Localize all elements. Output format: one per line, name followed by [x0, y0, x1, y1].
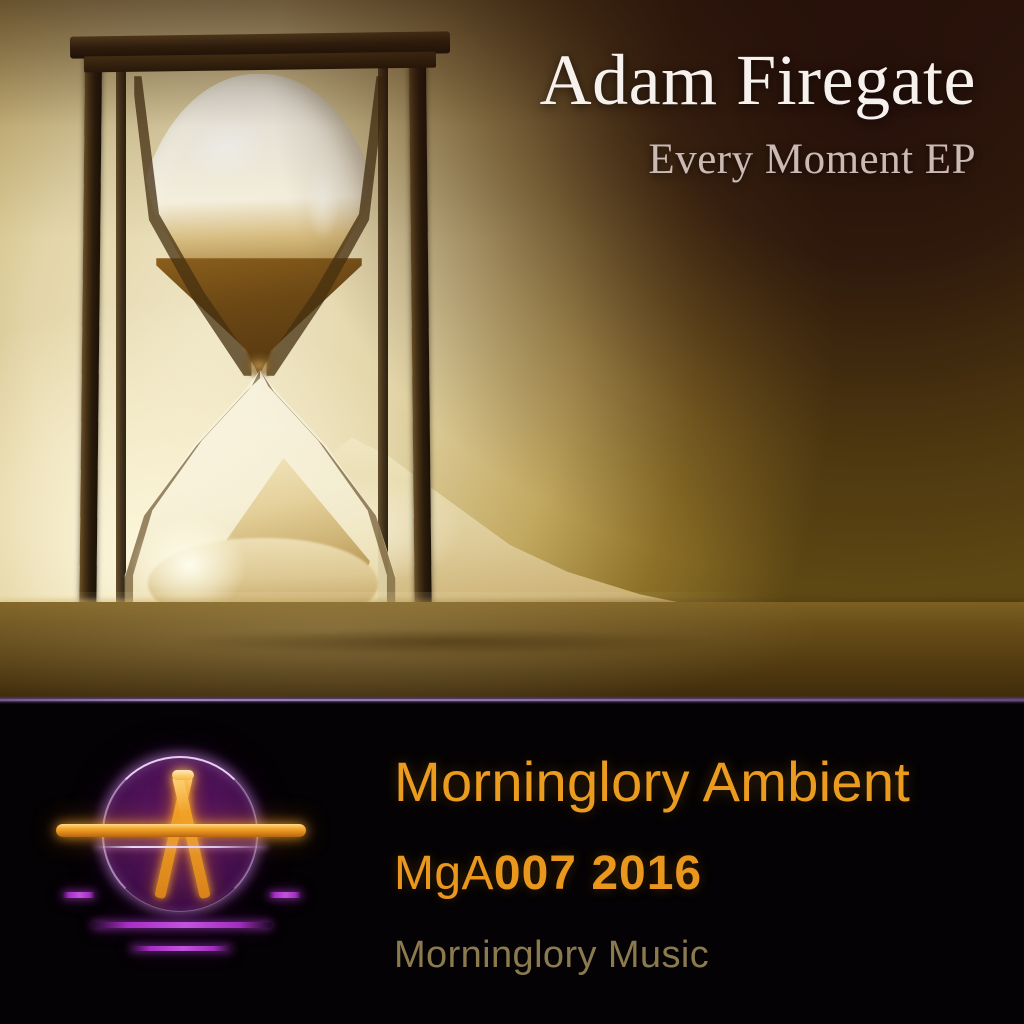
- logo-a-apex: [172, 770, 194, 780]
- logo-dash-long-icon: [92, 922, 272, 928]
- morninglory-a-logo: [56, 734, 306, 984]
- logo-dash-short-icon: [130, 946, 232, 951]
- logo-dash-left-icon: [62, 892, 96, 898]
- catalog-digits: 007 2016: [494, 847, 702, 900]
- catalog-prefix: MgA: [394, 847, 494, 900]
- catalog-number: MgA007 2016: [394, 850, 702, 898]
- banner-divider-sheen: [0, 699, 1024, 701]
- cover-photo: Adam Firegate Every Moment EP: [0, 0, 1024, 702]
- artist-name: Adam Firegate: [356, 44, 976, 116]
- title-block: Adam Firegate Every Moment EP: [356, 44, 976, 181]
- logo-dash-right-icon: [268, 892, 302, 898]
- album-cover: Adam Firegate Every Moment EP Morninglor…: [0, 0, 1024, 1024]
- imprint-name: Morninglory Music: [394, 936, 709, 974]
- logo-horizon-bar-icon: [56, 824, 306, 837]
- label-banner: Morninglory Ambient MgA007 2016 Morningl…: [0, 704, 1024, 1024]
- release-title: Every Moment EP: [356, 138, 976, 181]
- label-name: Morninglory Ambient: [394, 754, 910, 810]
